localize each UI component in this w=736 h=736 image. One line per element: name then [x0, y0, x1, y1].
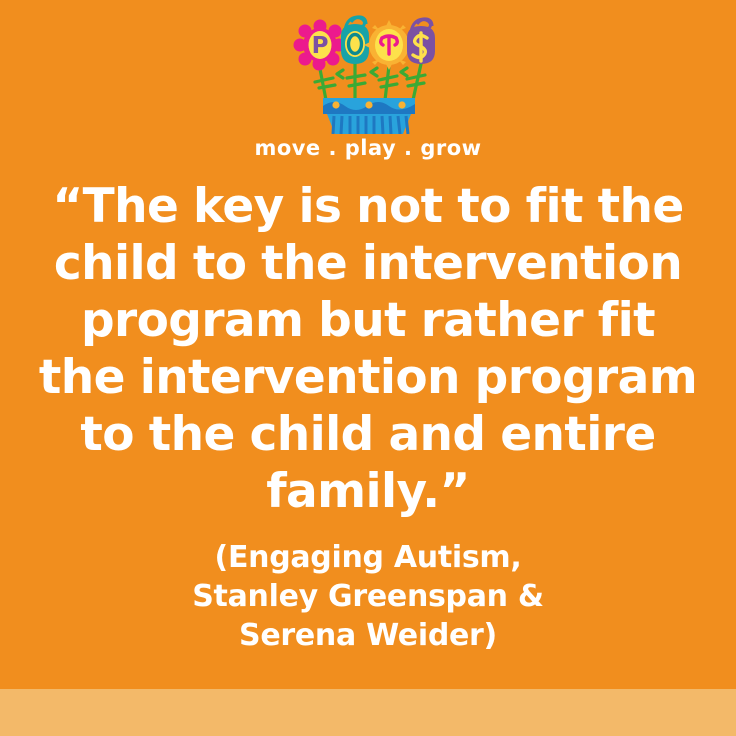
quote-text: “The key is not to fit the child to the … [36, 178, 700, 520]
quote-attribution: (Engaging Autism, Stanley Greenspan & Se… [36, 538, 700, 655]
attribution-line-1: (Engaging Autism, [36, 538, 700, 577]
flower-t-icon [364, 20, 414, 70]
pots-logo: P [0, 14, 736, 174]
logo-tagline: move . play . grow [254, 138, 481, 159]
flower-stems-icon [315, 62, 425, 100]
attribution-line-3: Serena Weider) [36, 616, 700, 655]
bottom-color-band [0, 689, 736, 736]
flower-pot-icon [323, 98, 415, 134]
flower-o-icon [341, 17, 369, 64]
attribution-line-2: Stanley Greenspan & [36, 577, 700, 616]
svg-text:P: P [312, 33, 329, 59]
flower-p-icon: P [294, 20, 346, 71]
pots-logo-mark: P [293, 14, 443, 134]
quote-poster: P [0, 0, 736, 736]
flower-s-icon [407, 19, 435, 64]
